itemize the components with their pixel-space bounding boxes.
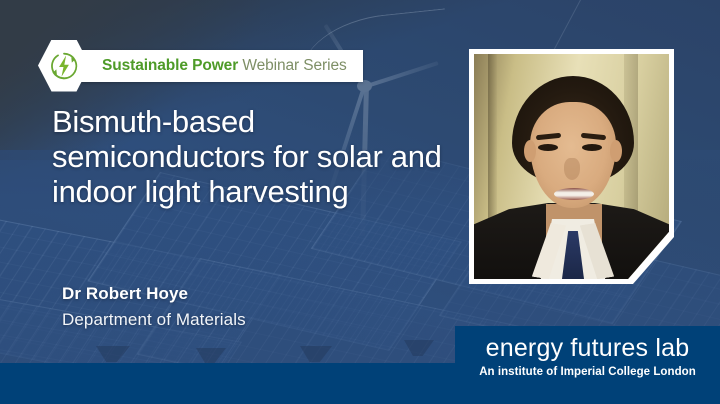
series-label-strong: Sustainable Power bbox=[102, 57, 238, 74]
series-label-light: Webinar Series bbox=[238, 57, 346, 74]
photo-eye bbox=[538, 144, 558, 151]
photo-ear bbox=[610, 140, 622, 162]
speaker-photo-frame bbox=[469, 49, 674, 284]
lightning-bolt-recycle-icon bbox=[47, 49, 81, 83]
brand-panel: energy futures lab An institute of Imper… bbox=[455, 326, 720, 404]
series-badge-bar: Sustainable Power Webinar Series bbox=[76, 50, 363, 82]
series-badge: Sustainable Power Webinar Series bbox=[38, 45, 363, 87]
photo-eye bbox=[582, 144, 602, 151]
speaker-department: Department of Materials bbox=[62, 310, 246, 330]
turbine-blade bbox=[362, 61, 439, 89]
photo-mouth bbox=[554, 188, 594, 200]
speaker-photo bbox=[474, 54, 669, 279]
brand-name: energy futures lab bbox=[486, 336, 690, 361]
photo-ear bbox=[524, 140, 536, 162]
sustainable-power-logo-hex bbox=[38, 40, 90, 92]
page-title: Bismuth-based semiconductors for solar a… bbox=[52, 104, 452, 209]
photo-nose bbox=[564, 158, 580, 180]
webinar-title-slide: Sustainable Power Webinar Series Bismuth… bbox=[0, 0, 720, 404]
speaker-name: Dr Robert Hoye bbox=[62, 284, 188, 304]
series-label: Sustainable Power Webinar Series bbox=[102, 57, 347, 75]
brand-subtitle: An institute of Imperial College London bbox=[479, 366, 696, 378]
